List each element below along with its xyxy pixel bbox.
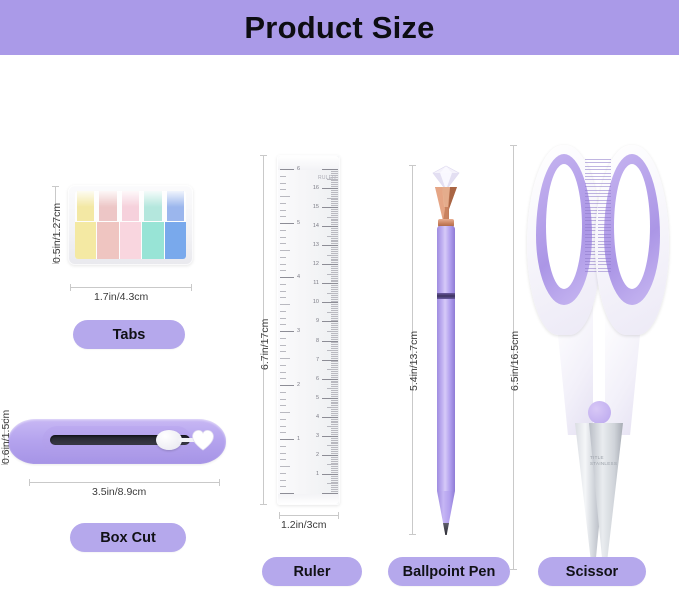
ruler-tick [327,445,338,446]
pen-cone [437,491,455,525]
tabs-width-label: 1.7in/4.3cm [94,291,148,303]
ruler-cm-number: 12 [313,261,319,267]
ruler-tick [327,388,338,389]
ruler-tick [331,251,338,252]
scissor-handle-left [527,145,601,335]
ruler-height-label: 6.7in/17cm [259,319,271,370]
tab-strip [120,191,141,259]
ruler-tick [327,312,338,313]
ruler-tick [280,264,286,265]
ruler-tick [331,487,338,488]
ruler-tick [331,405,338,406]
ruler-tick [322,321,338,322]
ruler-tick [331,278,338,279]
ruler-tick [331,253,338,254]
ruler-tick [331,403,338,404]
ruler-tick [331,289,338,290]
ruler-tick [280,351,286,352]
ruler-tick [331,249,338,250]
scissor-pivot [588,401,611,424]
ruler-tick [331,342,338,343]
ruler-tick [331,419,338,420]
ruler-tick [331,409,338,410]
tab-top [122,191,139,221]
ruler-tick [280,169,294,170]
scissor-grip-ridge [598,207,611,208]
ruler-tick [331,463,338,464]
ruler-tick [331,440,338,441]
ruler-tick [331,451,338,452]
ruler-tick [322,398,338,399]
ruler-tick [331,457,338,458]
ruler-tick [280,473,286,474]
ruler-tick [331,411,338,412]
ruler-tick [331,186,338,187]
ruler-tick [331,180,338,181]
product-stage: 0.5in/1.27cm 1.7in/4.3cm Tabs 0.6in/1.5c… [0,55,679,590]
ruler-cm-number: 10 [313,299,319,305]
tab-top [99,191,116,221]
scissor-grip-ridge [598,227,611,228]
ruler-tick [331,400,338,401]
scissor-handle-right [595,145,669,335]
ruler-tick [331,363,338,364]
ruler-tick [331,325,338,326]
ruler-tick [331,390,338,391]
ruler-tick [331,280,338,281]
ruler-tick [327,426,338,427]
ruler-tick [331,361,338,362]
ruler-tick [280,399,286,400]
ruler-tick [280,453,286,454]
ruler-width-label: 1.2in/3cm [281,519,327,531]
product-label-box-cut[interactable]: Box Cut [70,523,186,552]
ruler-tick [331,421,338,422]
scissor-grip-ridge [598,200,611,201]
ruler-top-cap [278,156,339,170]
ruler-tick [280,385,294,386]
heart-icon [191,429,215,451]
ruler-tick [331,346,338,347]
scissor-grip-ridge [598,254,611,255]
ruler-tick [331,308,338,309]
scissor-grip-ridge [598,186,611,187]
ruler-tick [331,194,338,195]
ruler-tick [322,360,338,361]
ruler-tick [331,438,338,439]
scissor-grip-ridge [598,196,611,197]
product-label-ballpoint-pen[interactable]: Ballpoint Pen [388,557,510,586]
ruler-tick [331,442,338,443]
ruler-tick [331,482,338,483]
ruler-inch-scale: 654321 [280,169,302,493]
ruler-tick [331,478,338,479]
scissor-grip-ridge [598,261,611,262]
ruler-tick [331,238,338,239]
ruler-tick [322,207,338,208]
ruler-tick [327,274,338,275]
ruler-tick [331,476,338,477]
ruler-tick [327,331,338,332]
ruler-tick [322,417,338,418]
ruler-tick [280,176,286,177]
ruler-tick [322,302,338,303]
ruler-tick [280,237,286,238]
ruler-cm-number: 15 [313,204,319,210]
ruler-tick [331,291,338,292]
ruler-tick [331,257,338,258]
ruler-tick [331,316,338,317]
scissor-grip-ridge [598,230,611,231]
scissor-grip-ridges [598,159,611,277]
scissor-grip-ridge [598,251,611,252]
ruler-tick [327,236,338,237]
ruler-tick [331,461,338,462]
ruler-tick [331,184,338,185]
ballpoint-pen-image [424,165,468,535]
ruler-tick [331,432,338,433]
ruler-tick [280,216,286,217]
ruler-tick [331,304,338,305]
scissor-grip-ridge [598,244,611,245]
ruler-tick [331,382,338,383]
ruler-inch-number: 6 [297,166,300,172]
box-cut-width-dimension-line [29,482,220,483]
ruler-tick [331,459,338,460]
product-label-ruler-text: Ruler [293,564,330,580]
ruler-cm-number: 1 [316,471,319,477]
scissor-grip-ridge [598,190,611,191]
ruler-tick [331,190,338,191]
ruler-tick [331,333,338,334]
ruler-tick [331,329,338,330]
ruler-tick [322,226,338,227]
ruler-tick [331,241,338,242]
ruler-tick [322,493,338,494]
ruler-tick [280,189,286,190]
ruler-inch-number: 5 [297,220,300,226]
ruler-tick [322,341,338,342]
ruler-tick [280,331,294,332]
scissor-grip-ridge [598,264,611,265]
scissor-finger-hole [614,164,650,289]
crown-setting-icon [435,187,457,221]
ruler-tick [331,310,338,311]
product-label-tabs[interactable]: Tabs [73,320,185,349]
tab-top [144,191,161,221]
ruler-tick [331,173,338,174]
ruler-tick [331,344,338,345]
ruler-tick [280,446,286,447]
product-label-ruler[interactable]: Ruler [262,557,362,586]
scissor-grip-ridge [598,268,611,269]
ruler-tick [331,177,338,178]
ruler-tick [331,428,338,429]
ruler-tick [331,337,338,338]
product-label-box-cut-text: Box Cut [100,530,156,546]
tabs-strip-row [75,191,186,259]
ruler-tick [280,257,286,258]
ruler-tick [327,483,338,484]
product-label-scissor-text: Scissor [566,564,618,580]
ruler-tick [322,455,338,456]
ruler-tick [331,240,338,241]
scissor-grip-ridge [598,159,611,160]
tabs-image [68,185,193,265]
ruler-tick [331,470,338,471]
scissor-grip-ridge [598,234,611,235]
ruler-tick [331,201,338,202]
ruler-tick [322,283,338,284]
scissor-grip-ridge [598,237,611,238]
ruler-tick [327,369,338,370]
ruler-tick [322,474,338,475]
scissor-grip-ridge [598,179,611,180]
scissor-grip-ridge [598,193,611,194]
ruler-tick [327,255,338,256]
ruler-tick [280,439,294,440]
ruler-inch-number: 1 [297,436,300,442]
ruler-cm-number: 13 [313,242,319,248]
scissor-blade-etching: TITLE STAINLESS [590,455,630,467]
ruler-tick [331,285,338,286]
ruler-cm-number: 2 [316,452,319,458]
tabs-height-label: 0.5in/1.27cm [51,203,63,263]
ruler-tick [331,215,338,216]
ruler-cm-number: 4 [316,414,319,420]
ruler-tick [331,297,338,298]
ruler-tick [280,466,290,467]
ruler-tick [331,281,338,282]
ruler-tick [280,297,286,298]
ruler-tick [331,422,338,423]
ruler-tick [331,222,338,223]
ruler-tick [331,358,338,359]
ruler-cm-scale: 16151413121110987654321 [312,169,338,493]
tabs-width-dimension-line [70,287,192,288]
ruler-tick [331,211,338,212]
ruler-tick [280,432,286,433]
ruler-tick [331,314,338,315]
ruler-cm-number: 8 [316,338,319,344]
scissor-finger-hole [546,164,582,289]
ruler-tick [331,367,338,368]
tab-top [167,191,184,221]
ruler-bottom-cap [278,494,339,504]
ruler-tick [331,224,338,225]
ruler-tick [280,223,294,224]
header-banner: Product Size [0,0,679,55]
ruler-tick [280,230,286,231]
ruler-tick [331,232,338,233]
scissor-grip-ridge [598,176,611,177]
ruler-tick [331,413,338,414]
ruler-tick [331,371,338,372]
ruler-tick [331,466,338,467]
scissor-grip-ridge [598,247,611,248]
ruler-tick [280,196,290,197]
ruler-tick [280,243,286,244]
ruler-tick [331,199,338,200]
ruler-tick [331,489,338,490]
ruler-tick [331,268,338,269]
ruler-tick [322,379,338,380]
ruler-tick [280,405,286,406]
tab-bottom [75,222,96,259]
ruler-tick [280,318,286,319]
ruler-tick [280,284,286,285]
scissor-grip-ridge [598,220,611,221]
scissor-grip-ridge [598,169,611,170]
ruler-tick [280,486,286,487]
ruler-tick [331,295,338,296]
ruler-tick [280,324,286,325]
ruler-tick [280,277,294,278]
box-cut-image [8,413,226,470]
scissor-grip-ridge [598,271,611,272]
ruler-tick [331,219,338,220]
product-label-tabs-text: Tabs [113,327,146,343]
tab-bottom [142,222,163,259]
ruler-tick [331,394,338,395]
ruler-cm-number: 14 [313,223,319,229]
ruler-tick [331,318,338,319]
ruler-tick [280,250,290,251]
ruler-cm-number: 5 [316,395,319,401]
ruler-tick [331,386,338,387]
ruler-tick [331,434,338,435]
ruler-tick [280,426,286,427]
ruler-tick [331,272,338,273]
ruler-tick [331,234,338,235]
pen-band [437,293,455,299]
tab-bottom [120,222,141,259]
ruler-tick [331,447,338,448]
ruler-tick [331,182,338,183]
ruler-tick [331,381,338,382]
ruler-cm-number: 11 [313,280,319,286]
ruler-tick [331,491,338,492]
ruler-tick [331,247,338,248]
ruler-width-dimension-line [279,515,339,516]
ruler-tick [331,230,338,231]
scissor-grip-ridge [598,162,611,163]
tab-strip [142,191,163,259]
ruler-tick [331,354,338,355]
ruler-tick [322,264,338,265]
tab-strip [75,191,96,259]
scissor-grip-ridge [598,258,611,259]
ruler-tick [280,270,286,271]
ruler-tick [331,365,338,366]
ruler-tick [280,372,286,373]
ruler-tick [327,217,338,218]
scissor-grip-ridge [598,203,611,204]
ruler-cm-number: 16 [313,185,319,191]
ruler-tick [331,171,338,172]
ruler-tick [331,415,338,416]
ruler-cm-number: 7 [316,357,319,363]
ruler-tick [280,493,294,494]
pen-tip [443,523,449,535]
ruler-tick [331,175,338,176]
ruler-tick [331,276,338,277]
ruler-tick [280,459,286,460]
ruler-inch-number: 4 [297,274,300,280]
ruler-tick [331,266,338,267]
ruler-tick [331,373,338,374]
ruler-tick [280,304,290,305]
scissor-grip-ridge [598,213,611,214]
ruler-tick [331,259,338,260]
ruler-tick [280,311,286,312]
scissor-grip-ridge [598,241,611,242]
ruler-tick [331,270,338,271]
ruler-tick [331,243,338,244]
ruler-tick [331,348,338,349]
ruler-tick [280,203,286,204]
ruler-tick [331,323,338,324]
scissor-grip-ridge [598,224,611,225]
ruler-tick [331,468,338,469]
ruler-tick [331,430,338,431]
ruler-tick [280,412,290,413]
scissor-image: TITLE STAINLESS [527,145,672,570]
ruler-tick [280,291,286,292]
ruler-tick [331,228,338,229]
ruler-tick [331,196,338,197]
ruler-tick [280,183,286,184]
ruler-tick [331,356,338,357]
ruler-tick [331,205,338,206]
ruler-tick [280,392,286,393]
ruler-tick [331,213,338,214]
ruler-tick [327,179,338,180]
ruler-tick [331,209,338,210]
ruler-tick [331,306,338,307]
ruler-tick [331,335,338,336]
ruler-tick [331,203,338,204]
ruler-tick [331,287,338,288]
scissor-grip-ridge [598,166,611,167]
pen-height-label: 5.4in/13.7cm [408,331,420,391]
ruler-tick [280,358,290,359]
ruler-cm-number: 3 [316,433,319,439]
box-cut-height-label: 0.6in/1.5cm [0,410,12,464]
product-label-ballpoint-pen-text: Ballpoint Pen [403,564,496,580]
ruler-tick [327,464,338,465]
ruler-tick [322,188,338,189]
ruler-tick [331,375,338,376]
ruler-tick [331,453,338,454]
ruler-tick [331,327,338,328]
ruler-tick [331,443,338,444]
ruler-tick [280,338,286,339]
product-label-scissor[interactable]: Scissor [538,557,646,586]
ruler-tick [331,320,338,321]
scissor-grip-ridge [598,210,611,211]
ruler-tick [280,345,286,346]
ruler-tick [331,377,338,378]
box-cut-width-label: 3.5in/8.9cm [92,486,146,498]
ruler-tick [280,365,286,366]
ruler-tick [331,192,338,193]
scissor-grip-ridge [598,217,611,218]
ruler-tick [322,436,338,437]
ruler-tick [280,419,286,420]
ruler-tick [331,220,338,221]
ruler-tick [280,480,286,481]
